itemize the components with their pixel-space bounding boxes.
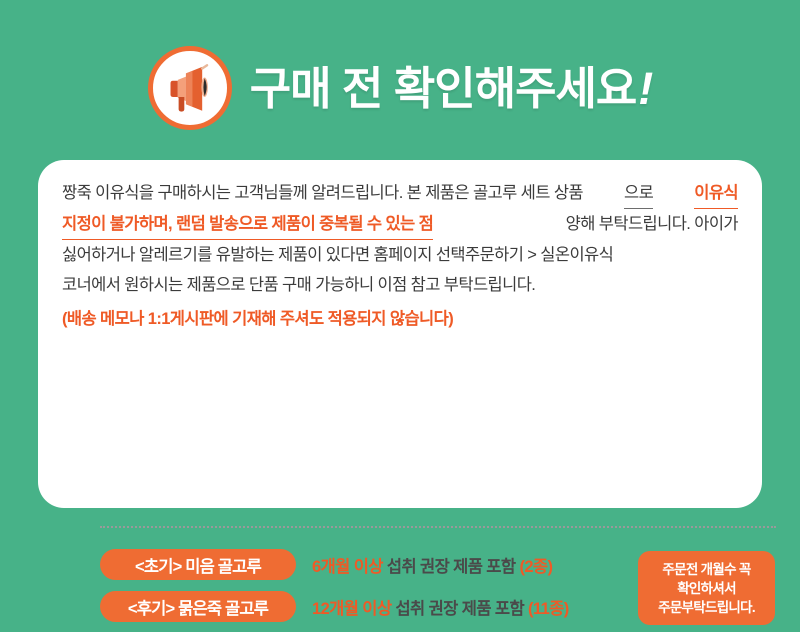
notice-line-2-text: 양해 부탁드립니다. 아이가 xyxy=(566,209,738,240)
banner-title: 구매 전 확인해주세요! xyxy=(250,66,653,111)
notice-line-1: 짱죽 이유식을 구매하시는 고객님들께 알려드립니다. 본 제품은 골고루 세트… xyxy=(62,178,738,209)
megaphone-icon xyxy=(148,46,232,130)
banner-header: 구매 전 확인해주세요! xyxy=(0,36,800,140)
section-divider xyxy=(100,526,776,528)
notice-line-1-highlight: 이유식 xyxy=(694,178,738,209)
notice-line-2-highlight: 지정이 불가하며, 랜덤 발송으로 제품이 중복될 수 있는 점 xyxy=(62,209,433,240)
product-row: <후기> 묽은죽 골고루 12개월 이상 섭취 권장 제품 포함 (11종) xyxy=(100,590,620,623)
product-desc-early: 6개월 이상 섭취 권장 제품 포함 (2종) xyxy=(312,553,552,577)
product-pill-early[interactable]: <초기> 미음 골고루 xyxy=(100,549,296,580)
product-desc-age-early: 6개월 이상 xyxy=(312,558,383,576)
notice-line-1-text: 짱죽 이유식을 구매하시는 고객님들께 알려드립니다. 본 제품은 골고루 세트… xyxy=(62,178,583,209)
product-desc-late: 12개월 이상 섭취 권장 제품 포함 (11종) xyxy=(312,595,569,619)
product-pill-late[interactable]: <후기> 묽은죽 골고루 xyxy=(100,591,296,622)
product-desc-main-late: 섭취 권장 제품 포함 xyxy=(395,600,524,618)
notice-card: 짱죽 이유식을 구매하시는 고객님들께 알려드립니다. 본 제품은 골고루 세트… xyxy=(38,160,762,508)
order-reminder-line-1: 주문전 개월수 꼭 xyxy=(662,560,750,579)
banner-title-text: 구매 전 확인해주세요 xyxy=(250,63,637,114)
notice-line-4: 코너에서 원하시는 제품으로 단품 구매 가능하니 이점 참고 부탁드립니다. xyxy=(62,270,738,300)
order-reminder-line-3: 주문부탁드립니다. xyxy=(658,598,755,617)
product-desc-age-late: 12개월 이상 xyxy=(312,600,391,618)
order-reminder-line-2: 확인하셔서 xyxy=(677,579,736,598)
product-desc-count-early: (2종) xyxy=(519,558,552,576)
product-rows: <초기> 미음 골고루 6개월 이상 섭취 권장 제품 포함 (2종) <후기>… xyxy=(100,548,620,632)
product-desc-count-late: (11종) xyxy=(528,600,569,618)
notice-line-1-underline: 으로 xyxy=(624,178,653,209)
product-desc-main-early: 섭취 권장 제품 포함 xyxy=(387,558,516,576)
notice-alert-line: (배송 메모나 1:1게시판에 기재해 주셔도 적용되지 않습니다) xyxy=(62,304,738,334)
notice-line-3: 싫어하거나 알레르기를 유발하는 제품이 있다면 홈페이지 선택주문하기 > 실… xyxy=(62,240,738,270)
banner-title-exclamation: ! xyxy=(636,63,652,114)
promo-banner: 구매 전 확인해주세요! 짱죽 이유식을 구매하시는 고객님들께 알려드립니다.… xyxy=(0,0,800,557)
order-reminder-box: 주문전 개월수 꼭 확인하셔서 주문부탁드립니다. xyxy=(638,551,775,625)
notice-line-2: 지정이 불가하며, 랜덤 발송으로 제품이 중복될 수 있는 점양해 부탁드립니… xyxy=(62,209,738,240)
product-row: <초기> 미음 골고루 6개월 이상 섭취 권장 제품 포함 (2종) xyxy=(100,548,620,581)
notice-paragraph: 짱죽 이유식을 구매하시는 고객님들께 알려드립니다. 본 제품은 골고루 세트… xyxy=(62,178,738,334)
